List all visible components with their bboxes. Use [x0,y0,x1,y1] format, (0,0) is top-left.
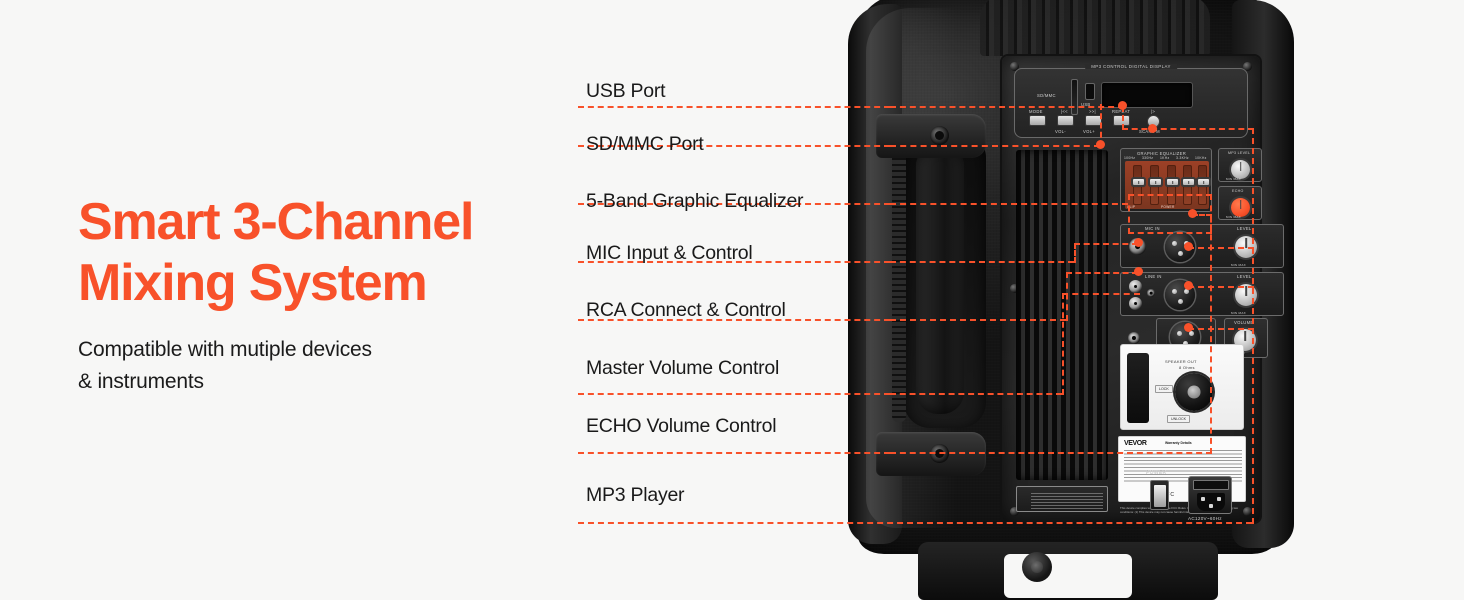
leader-seg-eq-right [890,203,1128,205]
eq-title: GRAPHIC EQUALIZER [1137,151,1186,156]
marker-dot-scanfm [1148,124,1157,133]
rca-jack-left[interactable] [1129,280,1142,293]
pole-mount-knob [1022,552,1052,582]
speaker-product-image: MP3 CONTROL DIGITAL DISPLAY SD/MMC USB M… [830,0,1310,600]
power-switch[interactable] [1150,480,1169,510]
callout-mic-input: MIC Input & Control [586,242,752,265]
iec-socket [1197,493,1225,511]
marker-dot-line-level [1184,281,1193,290]
callout-sd-mmc-port: SD/MMC Port [586,133,704,156]
lcd-display [1101,82,1193,108]
leader-seg-master-jack [1062,293,1140,295]
marker-dot-usb [1118,101,1127,110]
volume-label: VOLUME [1234,320,1253,325]
vevor-brand-name: VEVOR [1124,440,1147,447]
eq-band-label: 10KHz [1195,156,1207,160]
infographic-canvas: Smart 3-Channel Mixing System Compatible… [0,0,1464,600]
line-in-small-jack[interactable] [1147,289,1155,297]
eq-band-label: 1KHz [1160,156,1170,160]
mp3-level-label: MP3 LEVEL [1228,151,1250,155]
rca-line-input-section[interactable]: LINE IN LEVEL MIN MAX [1120,272,1284,316]
cabinet-top-ribs [980,0,1210,56]
leader-tick-line-level [1188,286,1254,288]
ac-power-inlet[interactable] [1188,476,1232,514]
mp3-panel-title: MP3 CONTROL DIGITAL DISPLAY [1085,64,1177,69]
callout-mp3-player: MP3 Player [586,484,684,507]
leader-tick-volume [1188,328,1254,330]
mode-button-label: MODE [1029,109,1043,114]
callout-master-volume: Master Volume Control [586,357,779,380]
side-handle-grip [916,144,964,414]
handle-bracket-top [876,114,986,158]
leader-seg-usb-top [1122,128,1254,130]
knob-scale-label: MIN MAX [1226,177,1241,181]
caution-text-block [1031,493,1103,509]
mic-level-label: LEVEL [1237,226,1252,231]
prev-button-label: |<< [1061,109,1068,114]
speaker-base [918,542,1218,600]
knob-scale-label: MIN MAX [1231,311,1246,315]
bracket-screw-icon [930,126,949,145]
handle-rail [892,122,906,422]
aux-in-jack[interactable] [1128,332,1140,344]
leader-line-echo [578,452,890,454]
knob-scale-label: MIN MAX [1226,215,1241,219]
speaker-out-impedance: 8 Ohms [1179,365,1195,370]
leader-seg-rca-right [890,319,1066,321]
eq-band-label: 100Hz [1124,156,1135,160]
callout-rca-connect: RCA Connect & Control [586,299,786,322]
leader-seg-usb-right [890,106,1124,108]
leader-seg-echo-vert [1210,214,1212,454]
leader-seg-echo-right [890,452,1212,454]
line-level-label: LEVEL [1237,274,1252,279]
sd-mmc-slot[interactable] [1071,79,1078,115]
leader-seg-master-right [890,393,1062,395]
prev-button[interactable] [1057,115,1074,126]
ac-rating-label: AC120V~60Hz [1188,516,1222,521]
usb-slot[interactable] [1085,83,1095,100]
power-label: POWER [1146,470,1166,476]
mode-button[interactable] [1029,115,1046,126]
mp3-level-section[interactable]: MP3 LEVEL MIN MAX [1218,148,1262,182]
leader-line-usb [578,106,890,108]
equalizer-highlight-box [1128,194,1212,234]
speakon-connector[interactable] [1175,373,1213,411]
leader-seg-mic-jack [1074,243,1138,245]
lock-tag: LOCK [1155,385,1173,393]
leader-rail-right [1252,128,1254,524]
play-button-label: |> [1151,109,1155,114]
speaker-out-section[interactable]: SPEAKER OUT 8 Ohms LOCK UNLOCK [1120,344,1244,430]
vol-down-label: VOL- [1055,129,1066,134]
callout-graphic-eq: 5-Band Graphic Equalizer [586,190,803,213]
speaker-out-title: SPEAKER OUT [1165,359,1197,364]
marker-dot-sd [1096,140,1105,149]
vol-up-label: VOL+ [1083,129,1095,134]
line-in-label: LINE IN [1145,274,1162,279]
marker-dot-echo [1188,209,1197,218]
marker-dot-mic-jack [1134,238,1143,247]
leader-line-mp3 [578,522,1252,524]
handle-bracket-bottom [876,432,986,476]
next-button-label: >>| [1089,109,1096,114]
fuse-holder[interactable] [1193,480,1229,490]
callout-echo-volume: ECHO Volume Control [586,415,776,438]
eq-band-label: 3.3KHz [1176,156,1189,160]
vevor-label-subtitle: Warranty Details [1165,441,1192,445]
unlock-tag: UNLOCK [1167,415,1190,423]
eq-band-label: 330Hz [1142,156,1153,160]
leader-seg-rca-jack [1066,272,1138,274]
leader-seg-mic-vert [1074,243,1076,263]
leader-seg-rca-vert [1066,272,1068,321]
caution-sticker [1016,486,1108,512]
marker-dot-volume [1184,323,1193,332]
leader-line-master [578,393,890,395]
callout-usb-port: USB Port [586,80,665,103]
page-title: Smart 3-Channel Mixing System [78,192,473,315]
page-subtitle: Compatible with mutiple devices & instru… [78,334,372,397]
echo-label: ECHO [1232,189,1244,193]
leader-seg-mic-right [890,261,1074,263]
leader-seg-sd-right [890,145,1100,147]
echo-volume-section[interactable]: ECHO MIN MAX [1218,186,1262,220]
rca-jack-right[interactable] [1129,297,1142,310]
leader-tick-mic-level [1188,247,1254,249]
marker-dot-rca-jack [1134,267,1143,276]
marker-dot-mic-level [1184,242,1193,251]
leader-seg-master-vert [1062,293,1064,395]
speaker-out-blank-port [1127,353,1149,423]
knob-scale-label: MIN MAX [1231,263,1246,267]
sd-slot-label: SD/MMC [1037,93,1056,98]
